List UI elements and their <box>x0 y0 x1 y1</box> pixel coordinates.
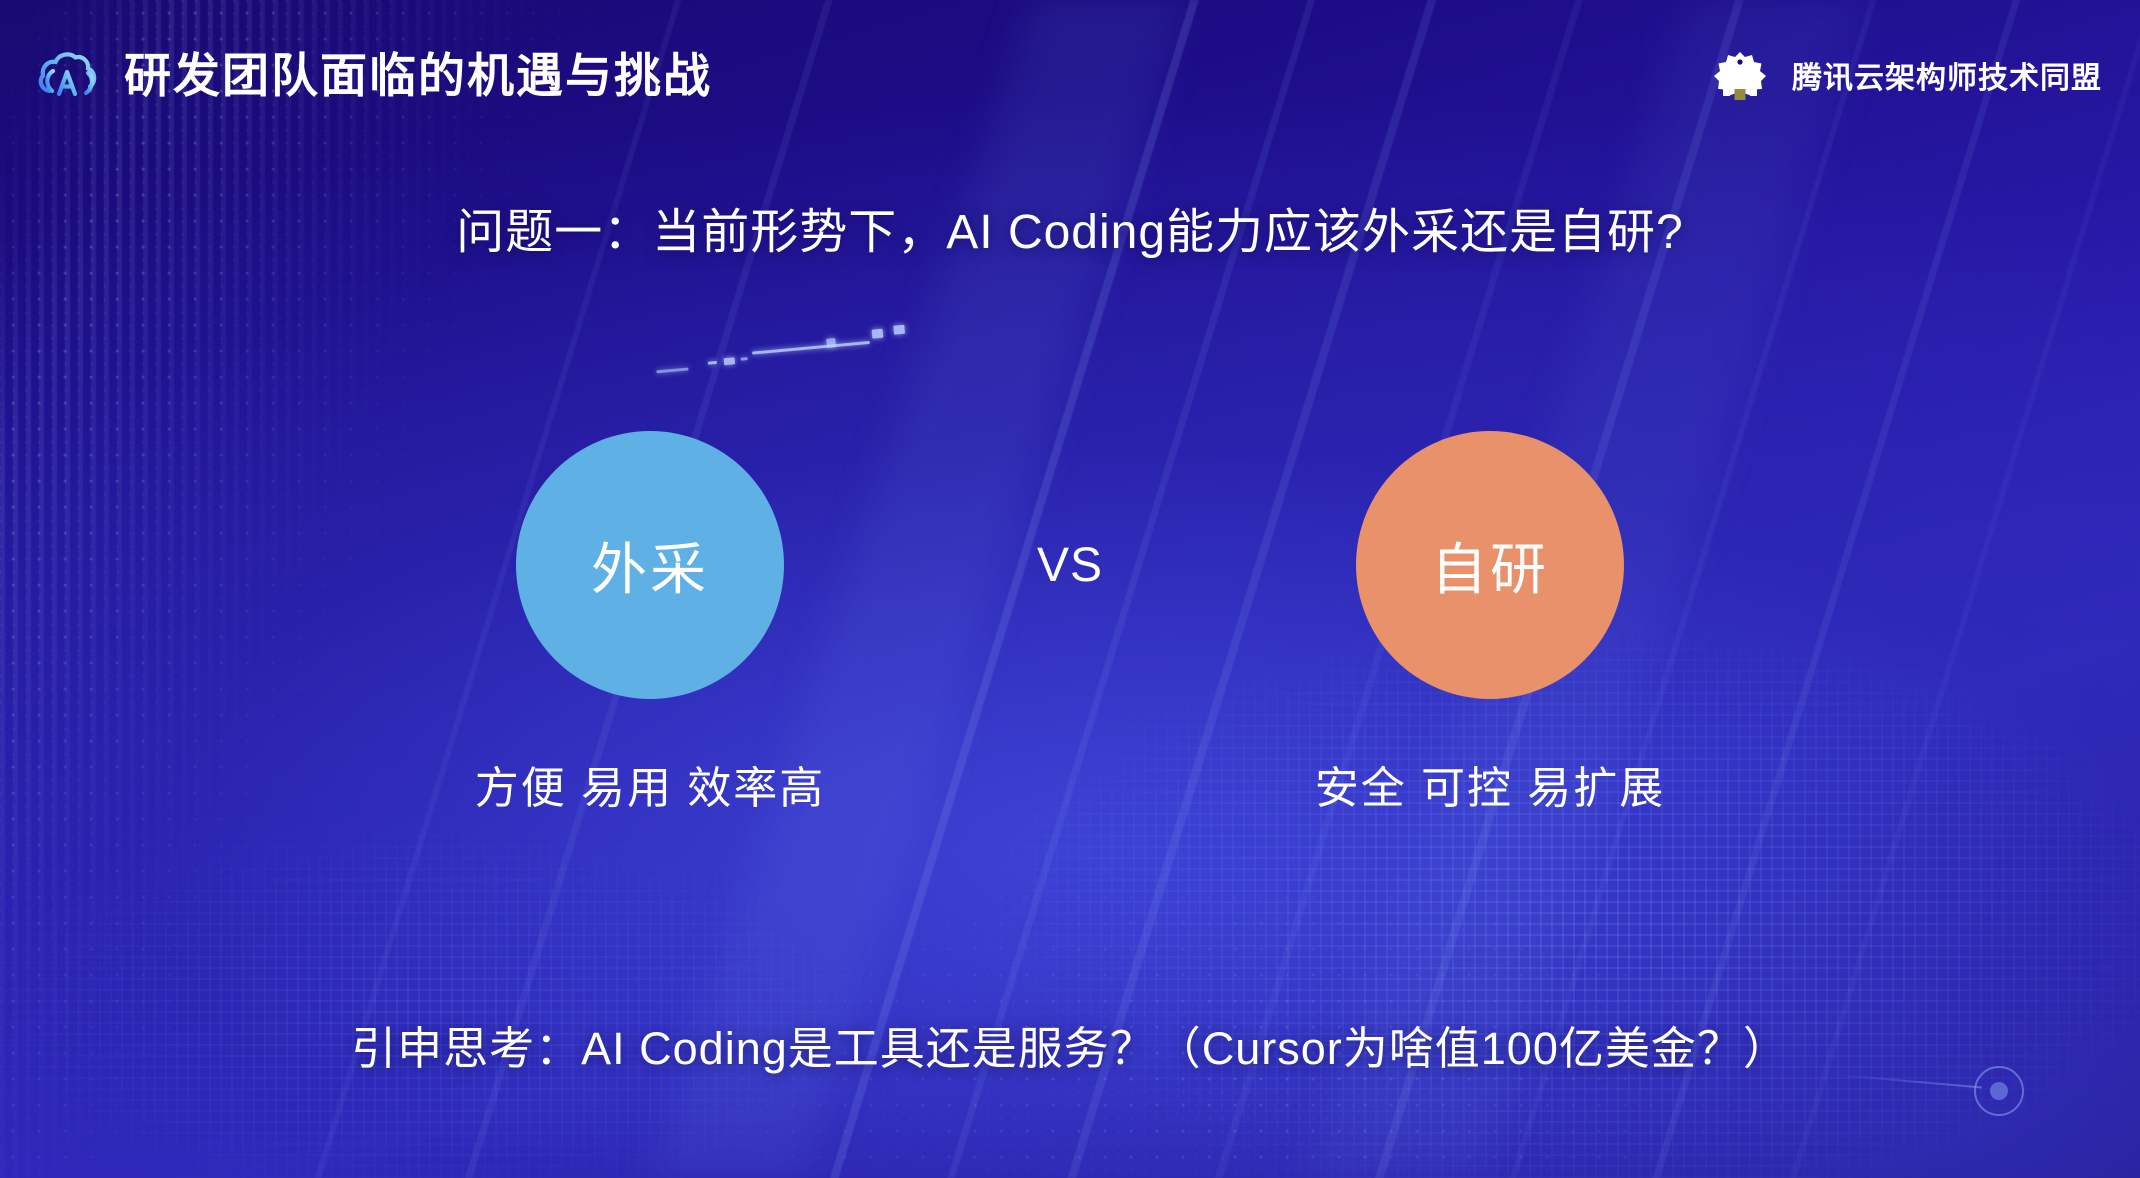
bubble-outsource[interactable]: 外采 <box>516 431 784 699</box>
slide-header: 研发团队面临的机遇与挑战 腾讯云架构师技术同盟 <box>0 0 2140 150</box>
dashed-accent-line-icon <box>654 320 887 381</box>
headline-question: 问题一：当前形势下，AI Coding能力应该外采还是自研? <box>0 192 2140 262</box>
bubble-inhouse-label: 自研 <box>1431 525 1549 606</box>
versus-separator: VS <box>1000 538 1140 593</box>
footnote-question: 引申思考：AI Coding是工具还是服务？（Cursor为啥值100亿美金？） <box>0 1012 2140 1077</box>
comparison-row: 外采 VS 自研 <box>0 430 2140 700</box>
bubble-inhouse[interactable]: 自研 <box>1356 431 1624 699</box>
option-inhouse: 自研 <box>1140 431 1840 699</box>
headline-question-text: 问题一：当前形势下，AI Coding能力应该外采还是自研? <box>456 206 1684 259</box>
header-brand-group: 腾讯云架构师技术同盟 <box>1704 50 2102 100</box>
footnote-question-text: 引申思考：AI Coding是工具还是服务？（Cursor为啥值100亿美金？） <box>351 1023 1789 1074</box>
bubble-outsource-label: 外采 <box>591 525 709 606</box>
brand-name: 腾讯云架构师技术同盟 <box>1792 53 2102 97</box>
header-left-group: 研发团队面临的机遇与挑战 <box>36 47 712 103</box>
presentation-slide: 研发团队面临的机遇与挑战 腾讯云架构师技术同盟 问题一：当前形势下，AI Cod… <box>0 0 2140 1178</box>
tencent-cloud-arch-alliance-icon <box>1704 50 1776 100</box>
option-outsource: 外采 <box>300 431 1000 699</box>
caption-spacer <box>1000 752 1140 816</box>
caption-outsource: 方便 易用 效率高 <box>300 752 1000 816</box>
page-title: 研发团队面临的机遇与挑战 <box>124 52 712 99</box>
caption-inhouse: 安全 可控 易扩展 <box>1140 752 1840 816</box>
caption-row: 方便 易用 效率高 安全 可控 易扩展 <box>0 752 2140 816</box>
ai-cloud-logo-icon <box>36 47 102 103</box>
